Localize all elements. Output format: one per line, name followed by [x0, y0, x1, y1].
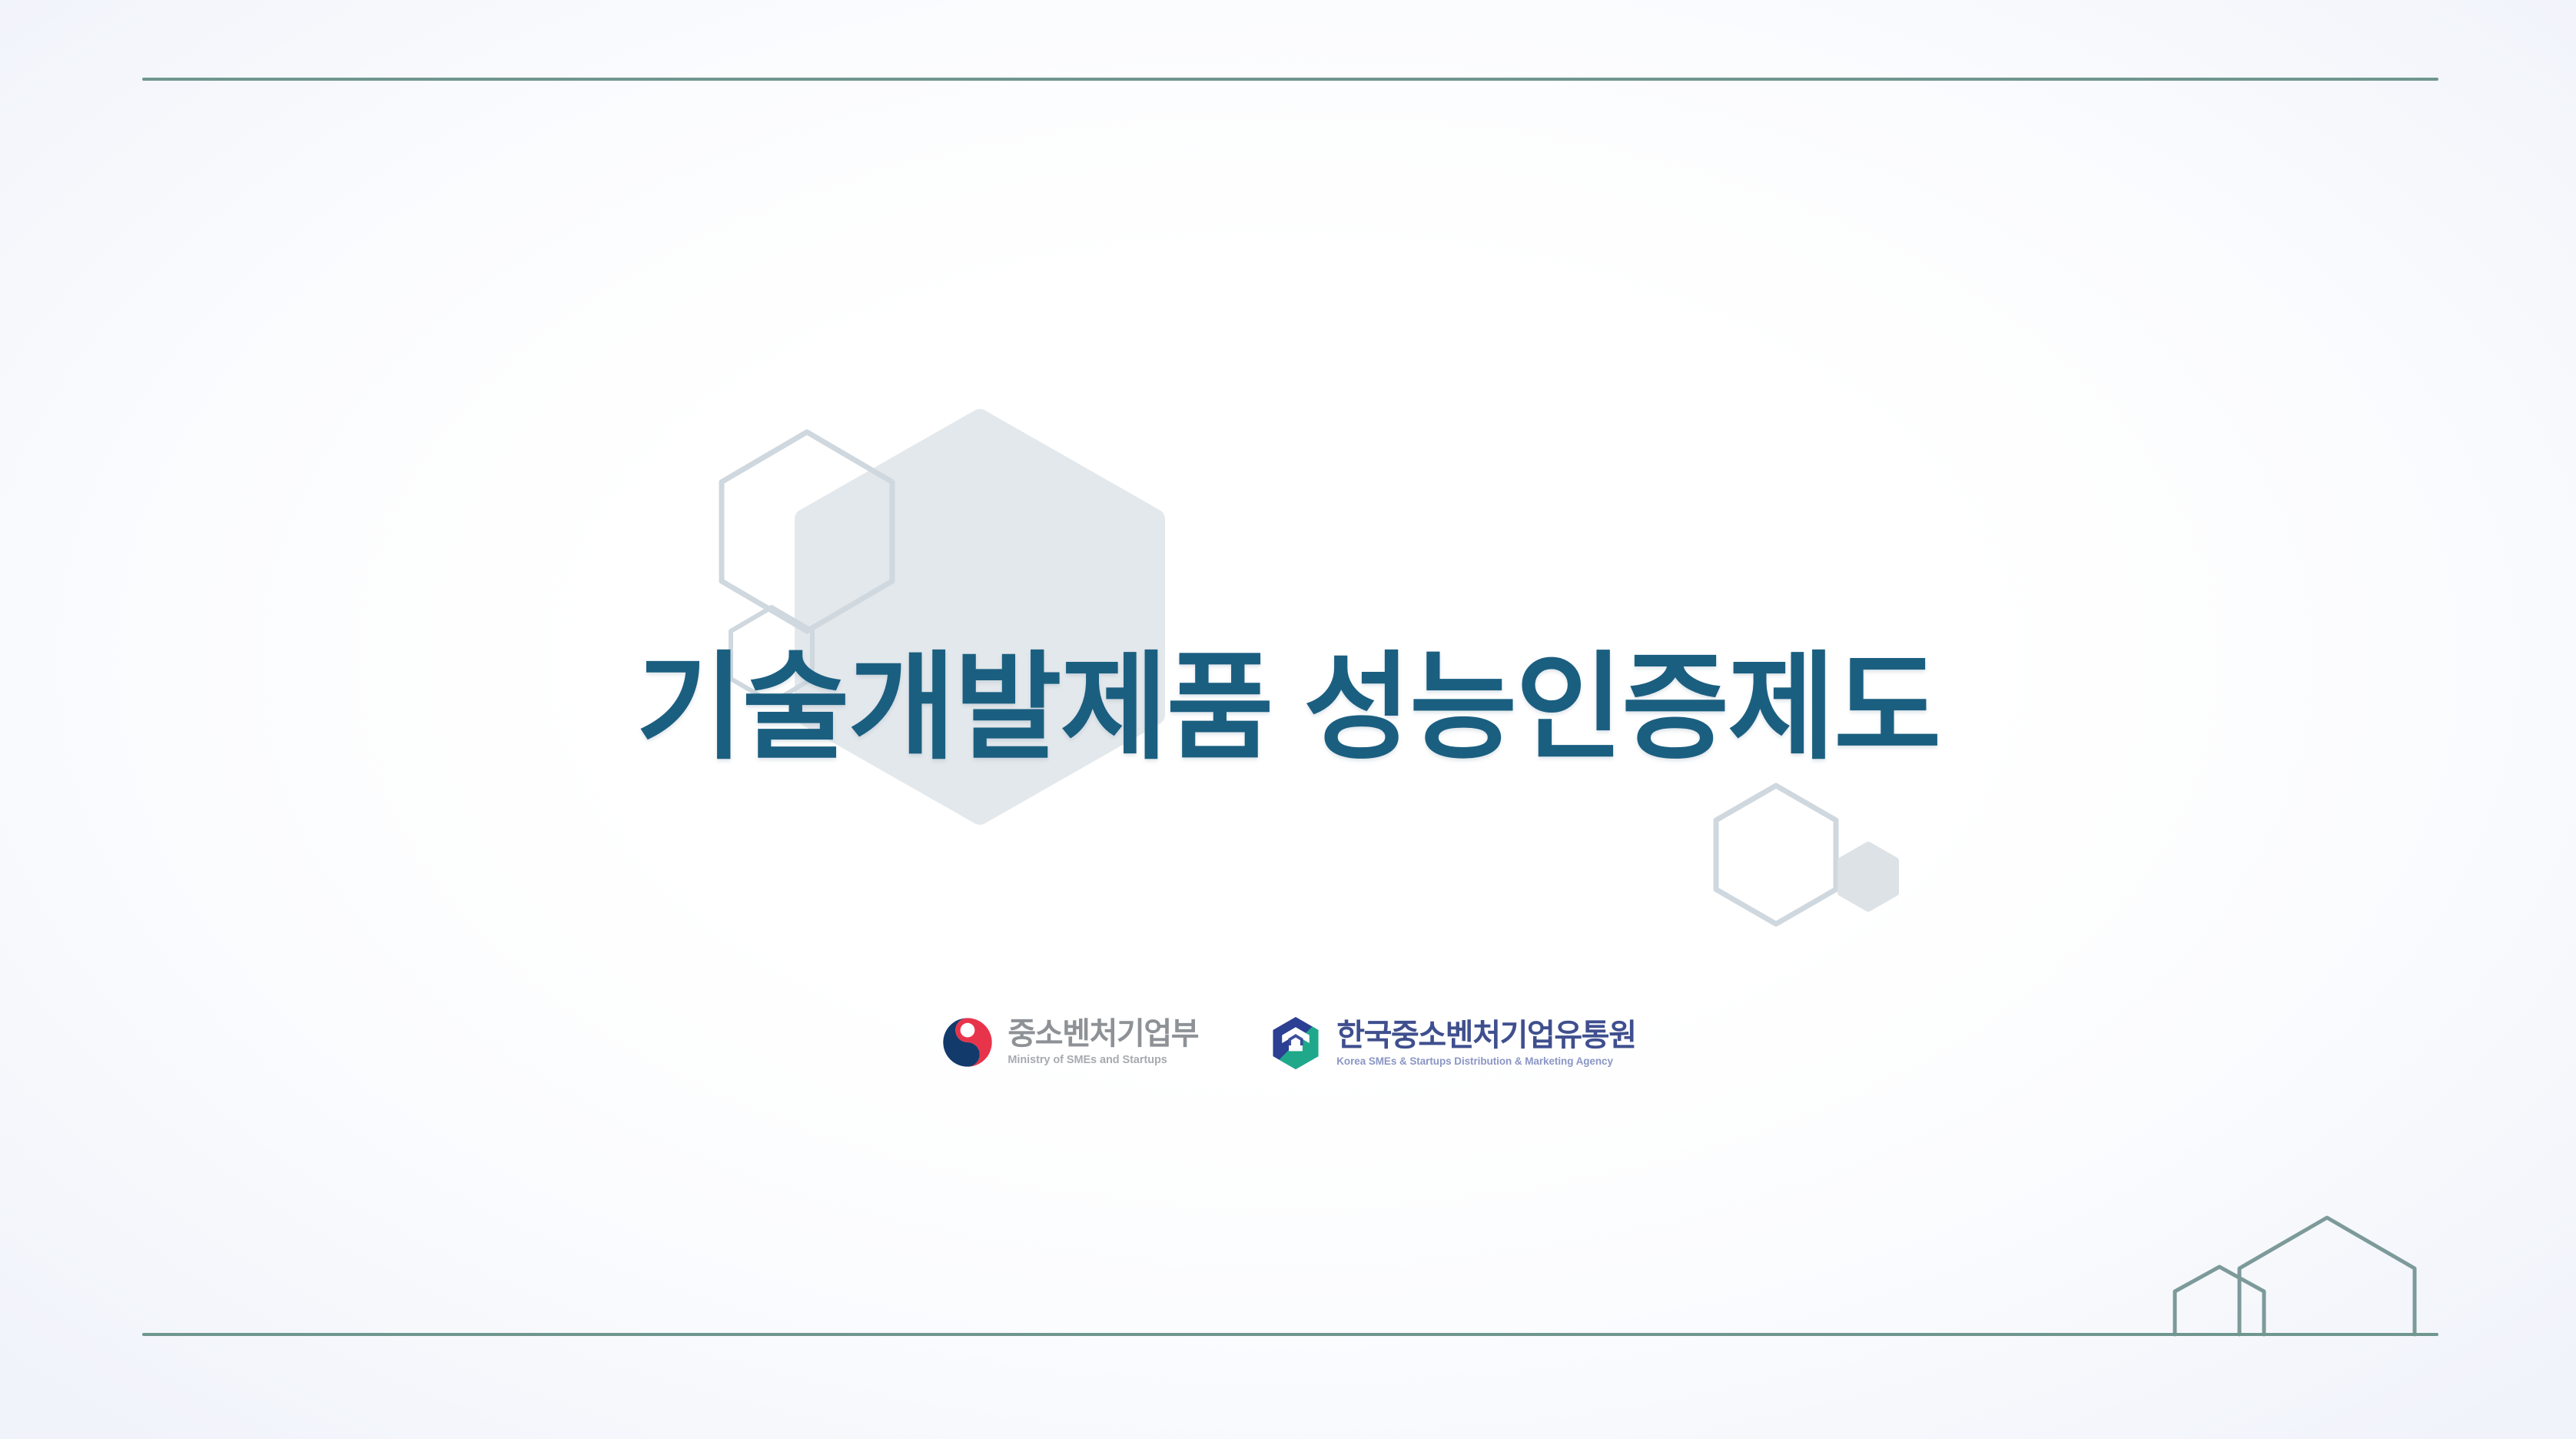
logo-row: 중소벤처기업부 Ministry of SMEs and Startups	[0, 1015, 2576, 1072]
outlined-hexagon-upper-left	[722, 432, 892, 631]
bottom-divider-rule	[142, 1333, 2438, 1336]
logo-text-block: 한국중소벤처기업유통원 Korea SMEs & Startups Distri…	[1336, 1020, 1635, 1067]
hexagon-logo-icon	[1267, 1015, 1324, 1072]
logo-korea-smes-startups-distribution-marketing-agency: 한국중소벤처기업유통원 Korea SMEs & Startups Distri…	[1267, 1015, 1635, 1072]
logo-name-en: Korea SMEs & Startups Distribution & Mar…	[1336, 1056, 1635, 1067]
building-outline-graphic	[2135, 1199, 2458, 1353]
logo-name-en: Ministry of SMEs and Startups	[1007, 1055, 1198, 1066]
logo-text-block: 중소벤처기업부 Ministry of SMEs and Startups	[1007, 1019, 1198, 1066]
title-slide: 기술개발제품 성능인증제도 중소벤처기업부 Ministry of SMEs a…	[0, 0, 2576, 1439]
top-divider-rule	[142, 78, 2438, 81]
logo-name-ko: 중소벤처기업부	[1007, 1019, 1198, 1049]
title-block: 기술개발제품 성능인증제도	[0, 650, 2576, 766]
logo-name-ko: 한국중소벤처기업유통원	[1336, 1020, 1635, 1051]
outlined-hexagon-right	[1716, 786, 1836, 924]
taegeuk-icon	[940, 1015, 995, 1070]
logo-ministry-of-smes-and-startups: 중소벤처기업부 Ministry of SMEs and Startups	[940, 1015, 1198, 1070]
small-filled-hexagon-right	[1841, 846, 1895, 908]
page-title: 기술개발제품 성능인증제도	[636, 650, 1940, 766]
